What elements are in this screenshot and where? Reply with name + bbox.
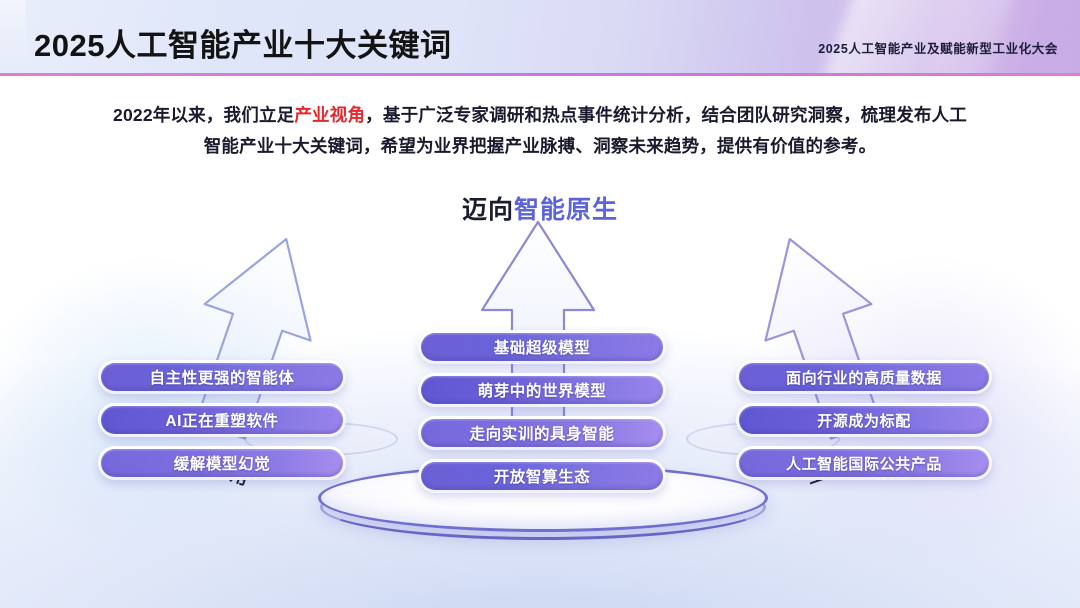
keyword-pill[interactable]: 走向实训的具身智能 [418, 416, 666, 450]
header-left-strip [0, 0, 26, 76]
keyword-pill[interactable]: 开源成为标配 [736, 403, 992, 437]
keyword-pill[interactable]: 自主性更强的智能体 [98, 360, 346, 394]
keyword-pill-label: 自主性更强的智能体 [101, 363, 343, 391]
keyword-pill-label: 缓解模型幻觉 [101, 449, 343, 477]
keyword-column-ecosystem: 面向行业的高质量数据 开源成为标配 人工智能国际公共产品 [736, 360, 992, 480]
header-accent-rule [0, 73, 1080, 76]
intro-highlight: 产业视角 [294, 105, 365, 125]
page-title: 2025人工智能产业十大关键词 [34, 20, 451, 65]
intro-text-b: ，基于广泛专家调研和热点事件统计分析，结合团队研究洞察，梳理发布人工 [365, 105, 967, 125]
keyword-column-application: 自主性更强的智能体 AI正在重塑软件 缓解模型幻觉 [98, 360, 346, 480]
keyword-pill-label: 萌芽中的世界模型 [421, 376, 663, 404]
keyword-pill-label: 人工智能国际公共产品 [739, 449, 989, 477]
intro-line-1: 2022年以来，我们立足产业视角，基于广泛专家调研和热点事件统计分析，结合团队研… [44, 100, 1036, 131]
intro-line-2: 智能产业十大关键词，希望为业界把握产业脉搏、洞察未来趋势，提供有价值的参考。 [44, 131, 1036, 162]
keyword-pill[interactable]: 基础超级模型 [418, 330, 666, 364]
intro-paragraph: 2022年以来，我们立足产业视角，基于广泛专家调研和热点事件统计分析，结合团队研… [44, 100, 1036, 162]
keyword-pill-label: 面向行业的高质量数据 [739, 363, 989, 391]
slide-root: 2025人工智能产业十大关键词 2025人工智能产业及赋能新型工业化大会 202… [0, 0, 1080, 608]
event-name-label: 2025人工智能产业及赋能新型工业化大会 [818, 38, 1058, 57]
keyword-pill-label: AI正在重塑软件 [101, 406, 343, 434]
keyword-pill[interactable]: 萌芽中的世界模型 [418, 373, 666, 407]
keyword-pill-label: 走向实训的具身智能 [421, 419, 663, 447]
keyword-pill[interactable]: 面向行业的高质量数据 [736, 360, 992, 394]
keyword-pill-label: 开放智算生态 [421, 462, 663, 490]
diagram-scene: 迈向智能原生 [0, 170, 1080, 608]
keyword-pill[interactable]: 人工智能国际公共产品 [736, 446, 992, 480]
intro-text-a: 2022年以来，我们立足 [113, 105, 294, 125]
keyword-pill[interactable]: AI正在重塑软件 [98, 403, 346, 437]
keyword-pill-label: 开源成为标配 [739, 406, 989, 434]
keyword-pill-label: 基础超级模型 [421, 333, 663, 361]
keyword-pill[interactable]: 缓解模型幻觉 [98, 446, 346, 480]
keyword-pill[interactable]: 开放智算生态 [418, 459, 666, 493]
keyword-column-technology: 基础超级模型 萌芽中的世界模型 走向实训的具身智能 开放智算生态 [418, 330, 666, 493]
